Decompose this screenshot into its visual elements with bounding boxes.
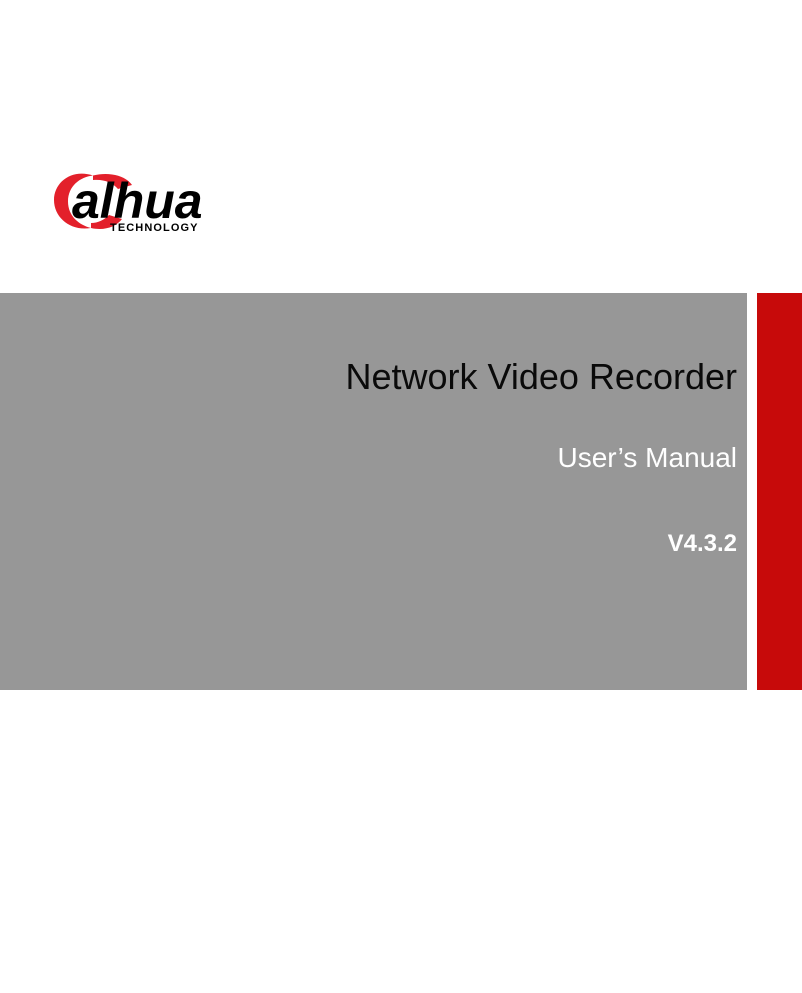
- logo-wordmark-text: alhua: [72, 173, 203, 229]
- dahua-logo-svg: alhua TECHNOLOGY: [52, 168, 252, 234]
- cover-gray-band: [0, 293, 747, 690]
- logo-wordmark: alhua: [72, 173, 203, 229]
- dahua-logo: alhua TECHNOLOGY: [52, 168, 252, 234]
- logo-tagline-text: TECHNOLOGY: [110, 222, 199, 234]
- cover-red-accent-bar: [757, 293, 802, 690]
